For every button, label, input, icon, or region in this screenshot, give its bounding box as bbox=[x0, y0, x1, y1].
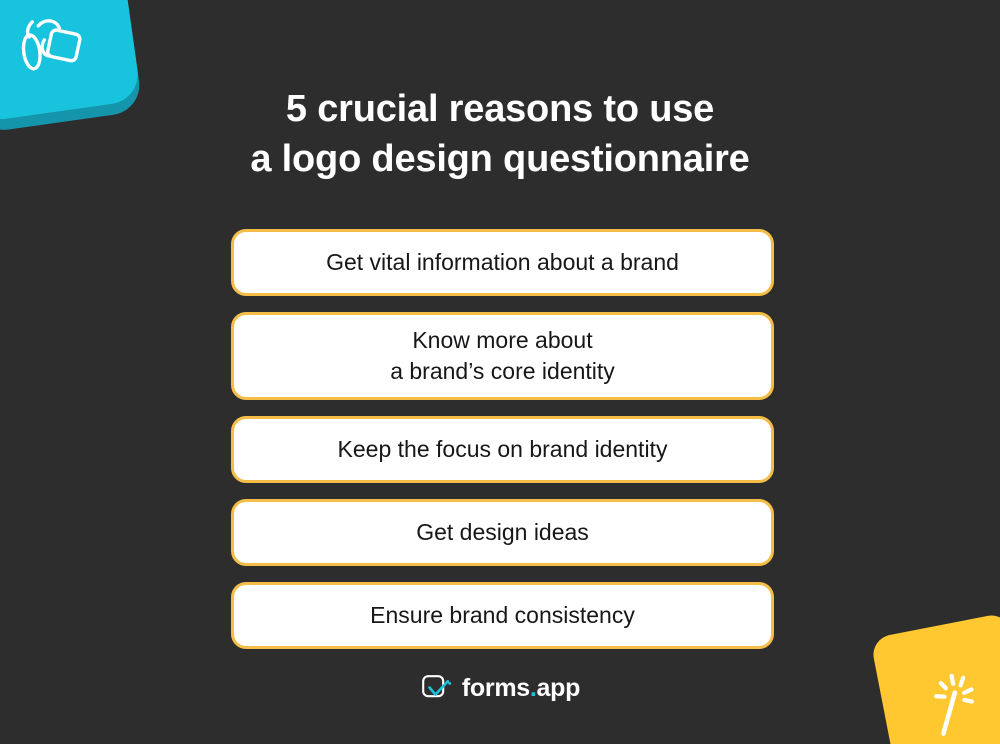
checkbox-check-icon bbox=[420, 672, 453, 705]
page-title-line-2: a logo design questionnaire bbox=[0, 134, 1000, 184]
reason-card: Ensure brand consistency bbox=[231, 582, 774, 649]
reason-card-label: Keep the focus on brand identity bbox=[338, 434, 668, 465]
design-shapes-icon bbox=[14, 14, 86, 78]
reasons-list: Get vital information about a brand Know… bbox=[231, 229, 774, 649]
reason-card-label: Get design ideas bbox=[416, 517, 589, 548]
reason-card-label: Get vital information about a brand bbox=[326, 247, 679, 278]
reason-card-label: Know more about a brand’s core identity bbox=[390, 325, 615, 387]
reason-card: Get design ideas bbox=[231, 499, 774, 566]
reason-card: Know more about a brand’s core identity bbox=[231, 312, 774, 400]
brand-name: forms bbox=[462, 674, 530, 702]
brand-dot: . bbox=[530, 674, 537, 702]
brand-wordmark: forms.app bbox=[462, 676, 580, 701]
infographic-canvas: 5 crucial reasons to use a logo design q… bbox=[0, 0, 1000, 744]
reason-card: Keep the focus on brand identity bbox=[231, 416, 774, 483]
brand-suffix: app bbox=[537, 674, 581, 702]
page-title-line-1: 5 crucial reasons to use bbox=[0, 84, 1000, 134]
reason-card-label: Ensure brand consistency bbox=[370, 600, 635, 631]
page-title: 5 crucial reasons to use a logo design q… bbox=[0, 84, 1000, 184]
footer-brand-logo: forms.app bbox=[0, 672, 1000, 705]
reason-card: Get vital information about a brand bbox=[231, 229, 774, 296]
